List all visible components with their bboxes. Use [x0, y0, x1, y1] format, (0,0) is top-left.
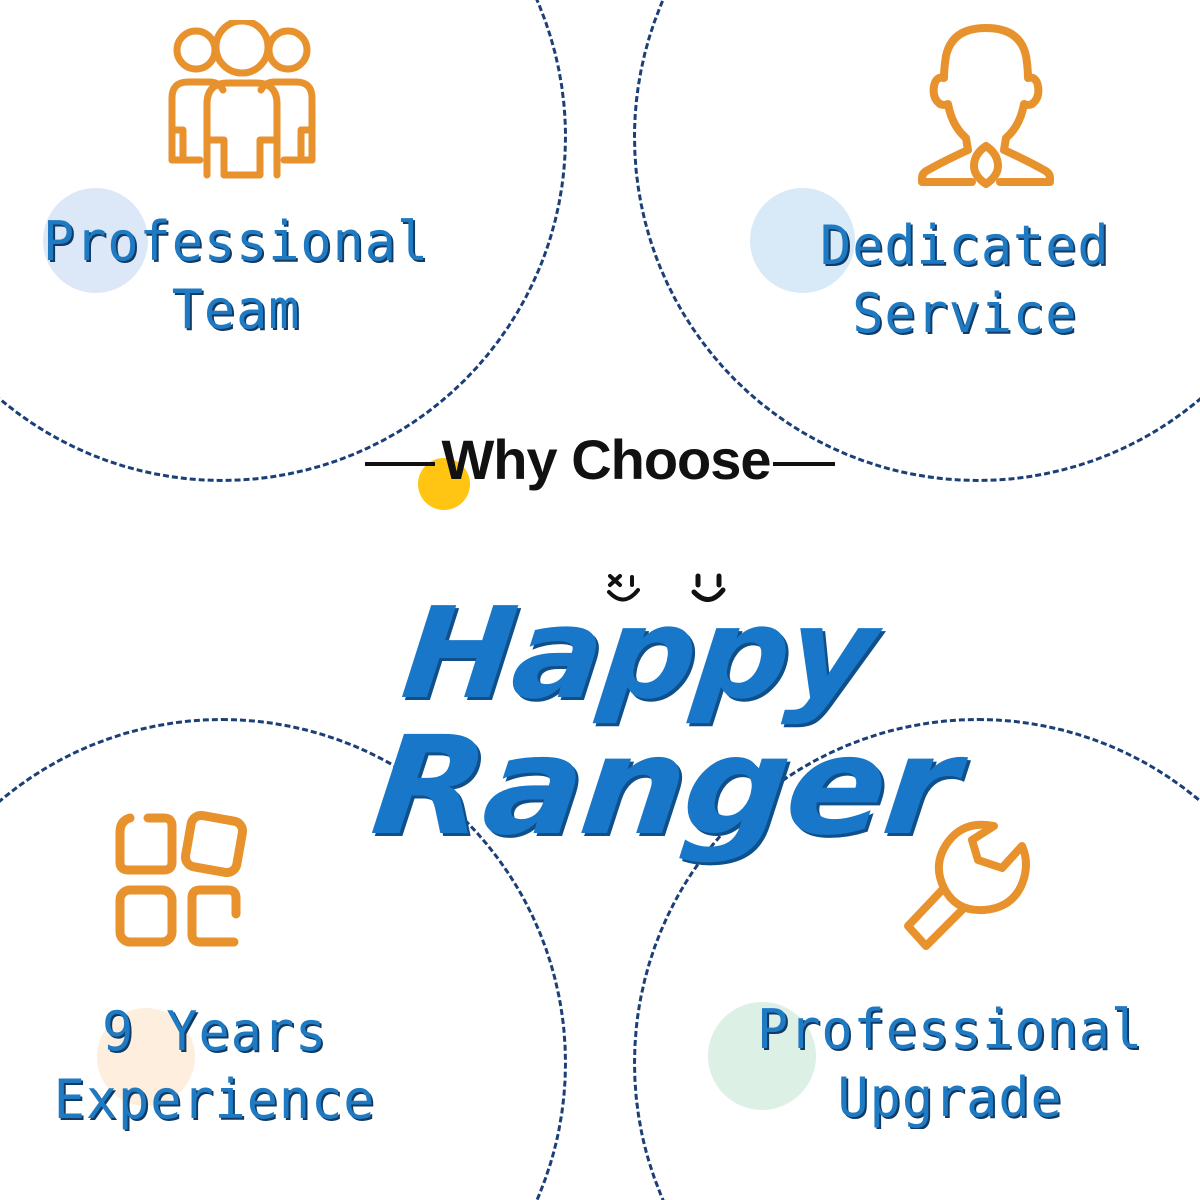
feature-label-professional-upgrade: Professional Upgrade — [757, 996, 1143, 1131]
rule-right — [773, 462, 835, 466]
page-eyebrow: Why Choose — [441, 432, 770, 488]
four-squares-icon — [112, 810, 252, 950]
feature-label-professional-team: Professional Team — [43, 208, 429, 343]
people-group-icon — [167, 20, 317, 180]
poster-canvas: Professional Team Dedicated Service — [0, 0, 1200, 1200]
service-agent-icon — [916, 20, 1056, 188]
why-choose-row: Why Choose — [0, 432, 1200, 496]
smiley-face-x-eyes-icon — [596, 560, 652, 621]
brand-wordmark: Happy Ranger — [0, 496, 1200, 796]
feature-dedicated-service[interactable]: Dedicated Service — [730, 20, 1200, 347]
brand-line-ranger: Ranger — [365, 708, 964, 866]
feature-label-dedicated-service: Dedicated Service — [820, 212, 1110, 347]
feature-label-years-experience: 9 Years Experience — [54, 998, 376, 1133]
feature-professional-team[interactable]: Professional Team — [0, 20, 472, 343]
smiley-face-dot-eyes-icon — [681, 560, 737, 621]
rule-left — [365, 462, 435, 466]
